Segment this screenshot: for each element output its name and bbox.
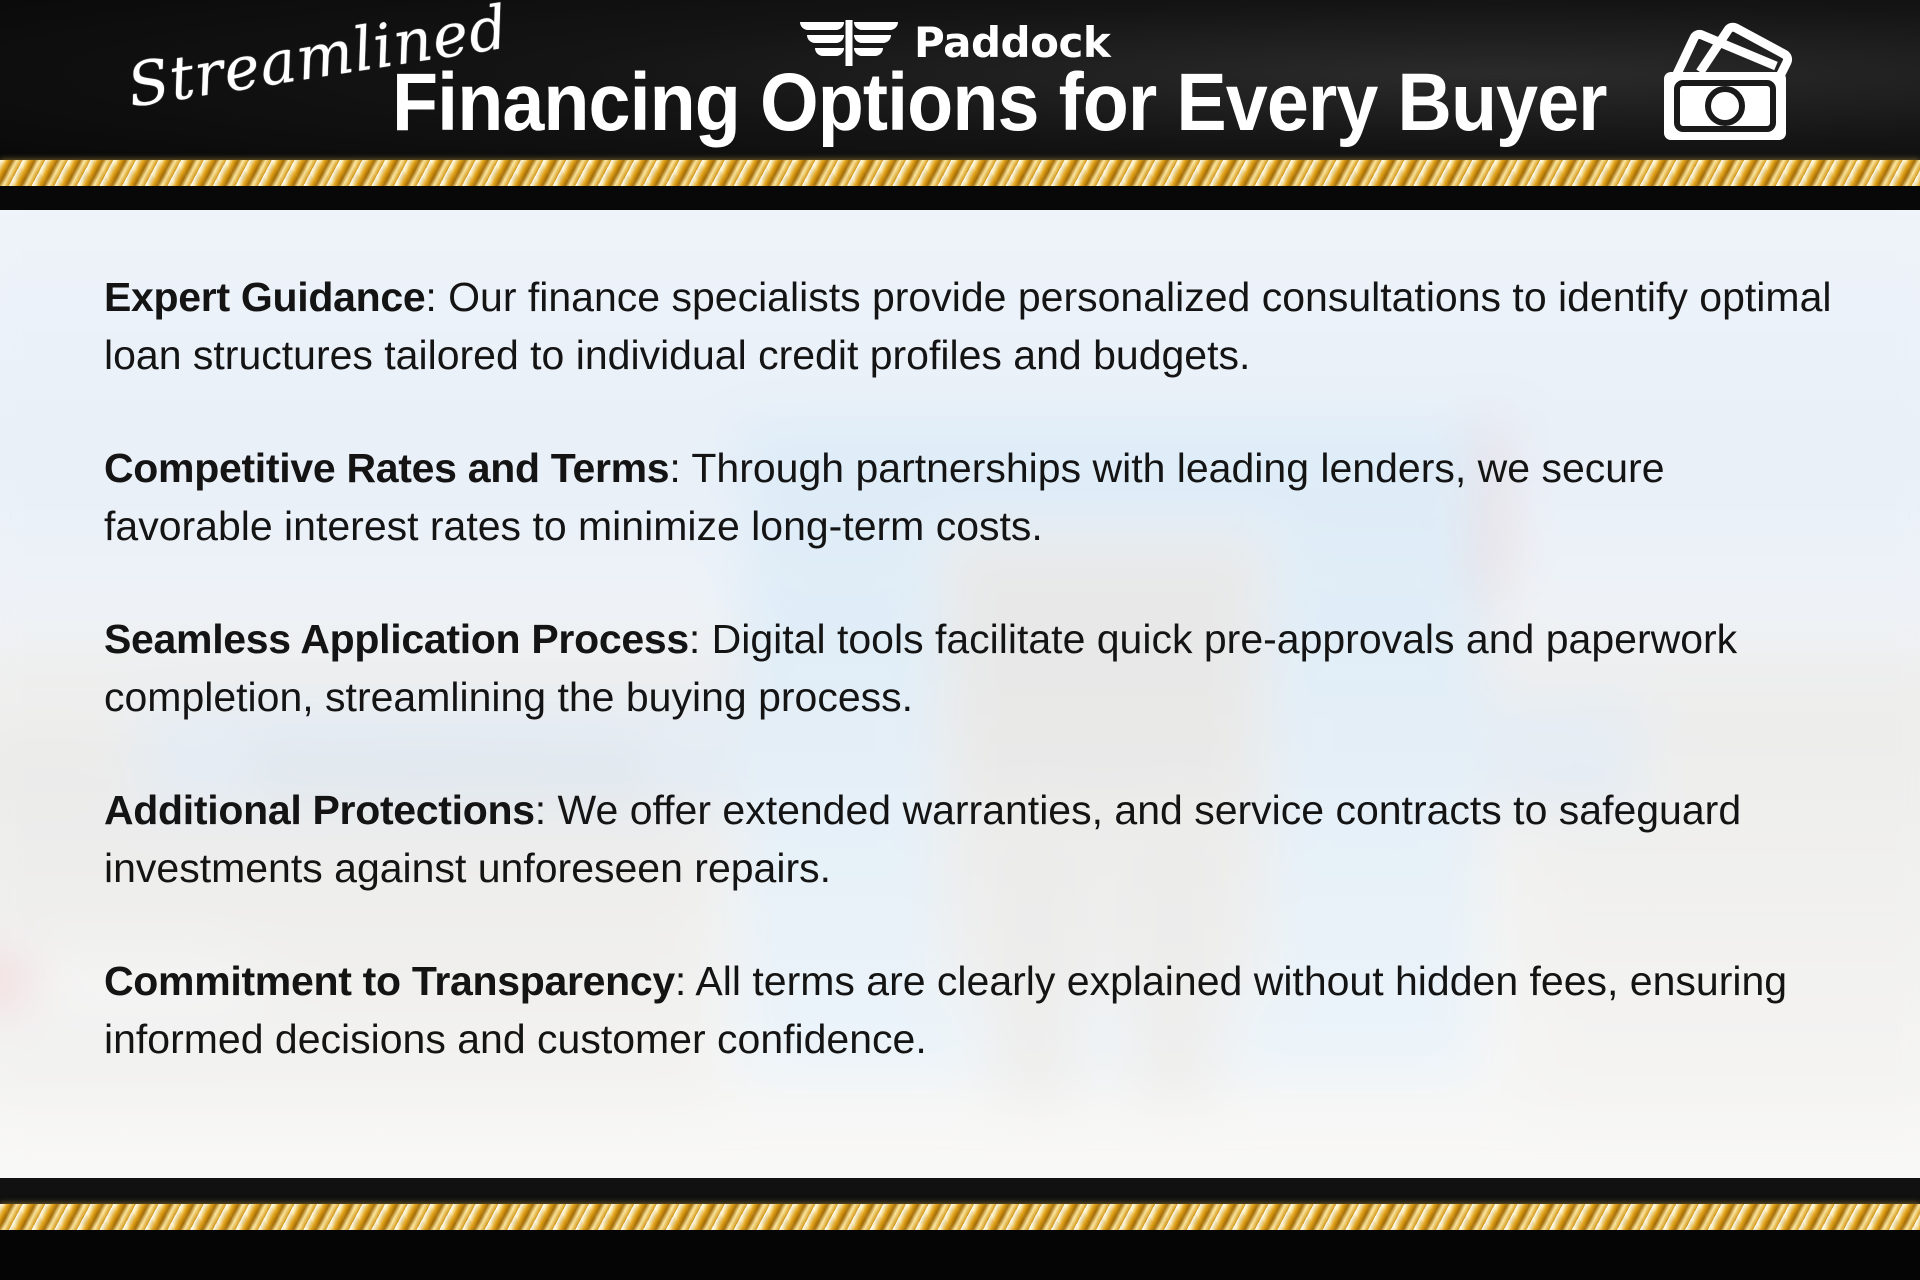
footer-top-black-bar [0, 1178, 1920, 1206]
list-item-heading: Competitive Rates and Terms [104, 445, 669, 491]
header-bottom-black-bar [0, 186, 1920, 210]
list-item: Expert Guidance: Our finance specialists… [104, 268, 1834, 384]
slide-root: Streamlined Paddock Financing Options fo… [0, 0, 1920, 1280]
list-item-separator: : [669, 445, 691, 491]
list-item: Commitment to Transparency: All terms ar… [104, 952, 1834, 1068]
page-title: Financing Options for Every Buyer [392, 60, 1607, 146]
money-cash-icon [1650, 14, 1800, 149]
bullet-list: Expert Guidance: Our finance specialists… [104, 268, 1864, 1068]
list-item: Competitive Rates and Terms: Through par… [104, 439, 1834, 555]
footer-bar [0, 1230, 1920, 1280]
list-item-heading: Commitment to Transparency [104, 958, 675, 1004]
content-area: PADDOCK Expert Guidance: Our finance spe… [0, 210, 1920, 1178]
gold-divider-bottom [0, 1204, 1920, 1230]
gold-divider-top [0, 160, 1920, 186]
list-item-separator: : [425, 274, 448, 320]
list-item-separator: : [689, 616, 712, 662]
list-item-heading: Additional Protections [104, 787, 535, 833]
list-item: Additional Protections: We offer extende… [104, 781, 1834, 897]
header-bar: Streamlined Paddock Financing Options fo… [0, 0, 1920, 186]
list-item-heading: Expert Guidance [104, 274, 425, 320]
list-item-separator: : [675, 958, 696, 1004]
list-item-heading: Seamless Application Process [104, 616, 689, 662]
list-item-separator: : [535, 787, 558, 833]
list-item: Seamless Application Process: Digital to… [104, 610, 1834, 726]
